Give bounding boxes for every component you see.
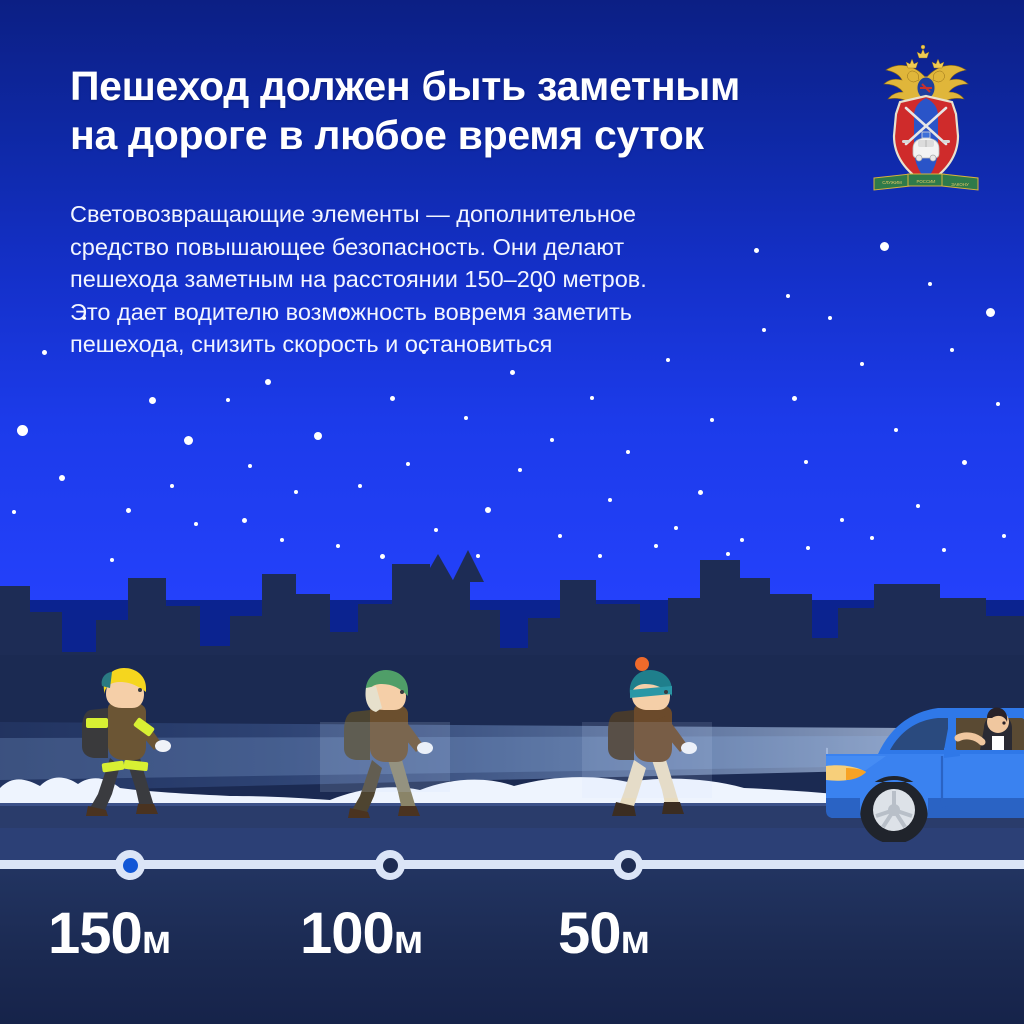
snowflake bbox=[149, 397, 156, 404]
snowflake bbox=[518, 468, 522, 472]
snowflake bbox=[608, 498, 612, 502]
distance-marker-core bbox=[383, 858, 398, 873]
snowflake bbox=[226, 398, 230, 402]
snowflake bbox=[828, 316, 832, 320]
snowflake bbox=[510, 370, 515, 375]
distance-marker-core bbox=[621, 858, 636, 873]
snowflake bbox=[59, 475, 65, 481]
page-title: Пешеход должен быть заметным на дороге в… bbox=[70, 62, 860, 160]
svg-text:РОССИИ: РОССИИ bbox=[917, 179, 936, 184]
distance-label-50: 50м bbox=[558, 905, 649, 969]
distance-marker-50[interactable] bbox=[613, 850, 643, 880]
snowflake bbox=[860, 362, 864, 366]
distance-marker-100[interactable] bbox=[375, 850, 405, 880]
distance-unit: м bbox=[394, 918, 423, 962]
snowflake bbox=[916, 504, 920, 508]
distance-label-150: 150м bbox=[48, 905, 170, 969]
distance-value: 50 bbox=[558, 901, 621, 966]
body-paragraph: Световозвращающие элементы — дополнитель… bbox=[70, 198, 810, 361]
snowflake bbox=[314, 432, 322, 440]
distance-value: 100 bbox=[300, 901, 394, 966]
snowflake bbox=[12, 510, 16, 514]
snowflake bbox=[550, 438, 554, 442]
snowflake bbox=[626, 450, 630, 454]
snowflake bbox=[485, 507, 491, 513]
snowflake bbox=[894, 428, 898, 432]
snowflake bbox=[962, 460, 967, 465]
snowflake bbox=[170, 484, 174, 488]
snowflake bbox=[996, 402, 1000, 406]
snowflake bbox=[265, 379, 271, 385]
snowflake bbox=[928, 282, 932, 286]
pedestrian-reflective bbox=[58, 662, 188, 822]
snowflake bbox=[17, 425, 28, 436]
snowflake bbox=[248, 464, 252, 468]
svg-text:ЗАКОНУ: ЗАКОНУ bbox=[951, 182, 969, 187]
car bbox=[826, 692, 1024, 842]
snowflake bbox=[698, 490, 703, 495]
snowflake bbox=[590, 396, 594, 400]
snowflake bbox=[406, 462, 410, 466]
snowflake bbox=[358, 484, 362, 488]
snowflake bbox=[792, 396, 797, 401]
snowflake bbox=[294, 490, 298, 494]
snowflake bbox=[986, 308, 995, 317]
snowflake bbox=[126, 508, 131, 513]
distance-marker-core bbox=[123, 858, 138, 873]
road-marking-line bbox=[0, 860, 1024, 869]
snowflake bbox=[390, 396, 395, 401]
snowflake bbox=[184, 436, 193, 445]
infographic-poster: Пешеход должен быть заметным на дороге в… bbox=[0, 0, 1024, 1024]
snowflake bbox=[42, 350, 47, 355]
distance-unit: м bbox=[621, 918, 650, 962]
gibdd-emblem-icon: СЛУЖИМ РОССИИ ЗАКОНУ bbox=[866, 44, 986, 196]
snowflake bbox=[710, 418, 714, 422]
snowflake bbox=[464, 416, 468, 420]
svg-text:СЛУЖИМ: СЛУЖИМ bbox=[882, 180, 902, 185]
distance-value: 150 bbox=[48, 901, 142, 966]
distance-label-100: 100м bbox=[300, 905, 422, 969]
snowflake bbox=[880, 242, 889, 251]
pedestrian-dark bbox=[582, 656, 712, 822]
distance-marker-150[interactable] bbox=[115, 850, 145, 880]
pedestrian-lit bbox=[320, 662, 450, 822]
snowflake bbox=[950, 348, 954, 352]
distance-unit: м bbox=[142, 918, 171, 962]
snowflake bbox=[804, 460, 808, 464]
